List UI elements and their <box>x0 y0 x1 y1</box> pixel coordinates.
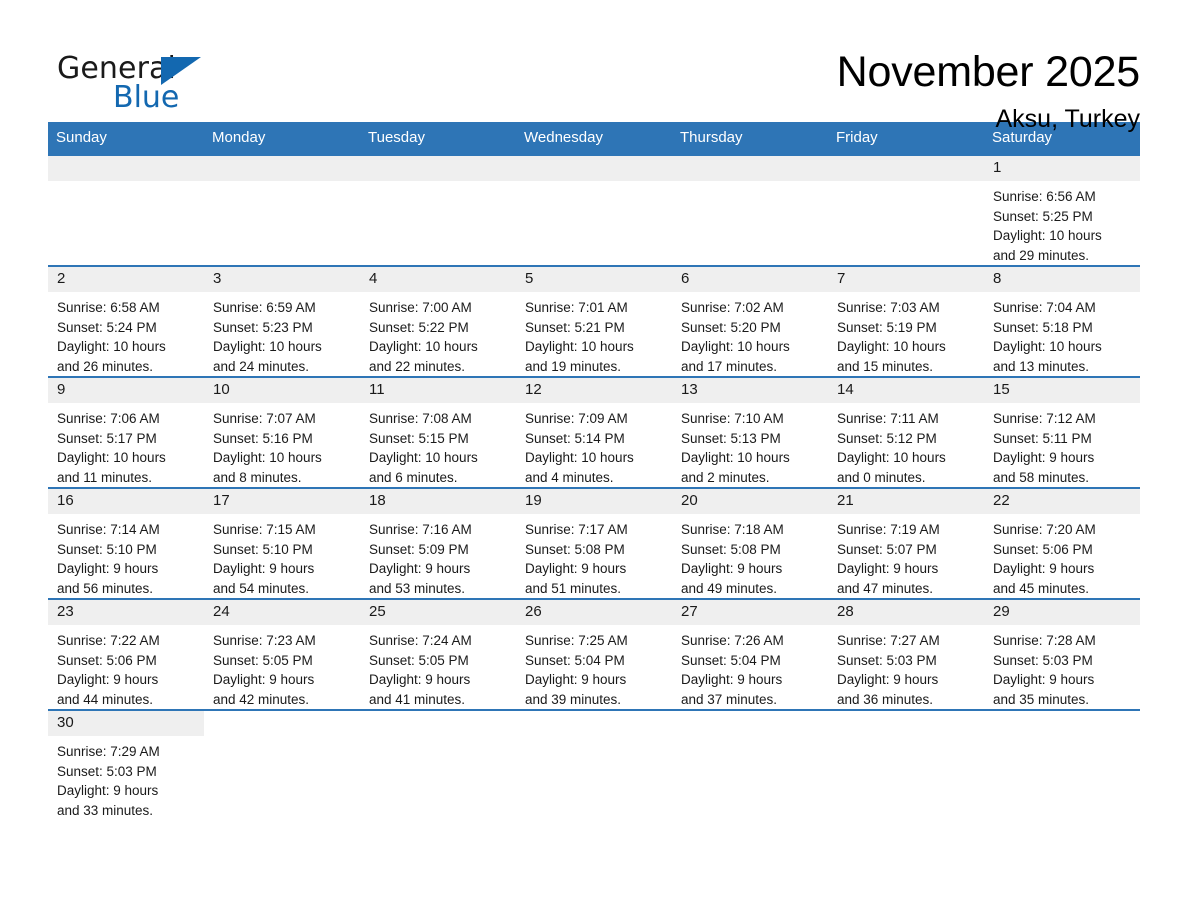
sunrise-text: Sunrise: 7:22 AM <box>57 631 198 651</box>
daylight-text-line2: and 17 minutes. <box>681 357 822 377</box>
sunrise-text: Sunrise: 7:19 AM <box>837 520 978 540</box>
sunrise-text: Sunrise: 7:24 AM <box>369 631 510 651</box>
day-cell-inner: 23Sunrise: 7:22 AMSunset: 5:06 PMDayligh… <box>48 600 204 709</box>
day-cell-inner <box>828 711 984 821</box>
day-cell-inner: 14Sunrise: 7:11 AMSunset: 5:12 PMDayligh… <box>828 378 984 487</box>
calendar-blank-cell <box>828 710 984 822</box>
day-details: Sunrise: 7:27 AMSunset: 5:03 PMDaylight:… <box>828 625 984 709</box>
daylight-text-line1: Daylight: 9 hours <box>993 670 1134 690</box>
day-cell-inner: 6Sunrise: 7:02 AMSunset: 5:20 PMDaylight… <box>672 267 828 376</box>
daylight-text-line1: Daylight: 9 hours <box>525 670 666 690</box>
sunrise-text: Sunrise: 7:15 AM <box>213 520 354 540</box>
day-number: 1 <box>984 156 1140 181</box>
day-details: Sunrise: 7:02 AMSunset: 5:20 PMDaylight:… <box>672 292 828 376</box>
day-number <box>516 156 672 181</box>
day-number: 23 <box>48 600 204 625</box>
day-details: Sunrise: 7:08 AMSunset: 5:15 PMDaylight:… <box>360 403 516 487</box>
day-number <box>984 711 1140 736</box>
calendar-empty-cell <box>360 155 516 266</box>
calendar-day-cell[interactable]: 23Sunrise: 7:22 AMSunset: 5:06 PMDayligh… <box>48 599 204 710</box>
daylight-text-line2: and 44 minutes. <box>57 690 198 710</box>
daylight-text-line1: Daylight: 10 hours <box>369 337 510 357</box>
sunrise-text: Sunrise: 7:28 AM <box>993 631 1134 651</box>
sunset-text: Sunset: 5:04 PM <box>681 651 822 671</box>
daylight-text-line2: and 33 minutes. <box>57 801 198 821</box>
sunrise-text: Sunrise: 7:23 AM <box>213 631 354 651</box>
daylight-text-line2: and 35 minutes. <box>993 690 1134 710</box>
calendar-week-row: 1Sunrise: 6:56 AMSunset: 5:25 PMDaylight… <box>48 155 1140 266</box>
day-details: Sunrise: 6:56 AMSunset: 5:25 PMDaylight:… <box>984 181 1140 265</box>
day-number: 17 <box>204 489 360 514</box>
daylight-text-line2: and 37 minutes. <box>681 690 822 710</box>
sunset-text: Sunset: 5:10 PM <box>213 540 354 560</box>
sunset-text: Sunset: 5:16 PM <box>213 429 354 449</box>
day-cell-inner: 24Sunrise: 7:23 AMSunset: 5:05 PMDayligh… <box>204 600 360 709</box>
daylight-text-line2: and 58 minutes. <box>993 468 1134 488</box>
sunset-text: Sunset: 5:06 PM <box>993 540 1134 560</box>
daylight-text-line2: and 49 minutes. <box>681 579 822 599</box>
calendar-table: Sunday Monday Tuesday Wednesday Thursday… <box>48 122 1140 823</box>
sunrise-text: Sunrise: 7:16 AM <box>369 520 510 540</box>
sunset-text: Sunset: 5:24 PM <box>57 318 198 338</box>
day-cell-inner: 12Sunrise: 7:09 AMSunset: 5:14 PMDayligh… <box>516 378 672 487</box>
day-number <box>360 156 516 181</box>
day-cell-inner <box>672 711 828 821</box>
day-cell-inner: 13Sunrise: 7:10 AMSunset: 5:13 PMDayligh… <box>672 378 828 487</box>
day-cell-inner <box>204 156 360 265</box>
day-details: Sunrise: 7:15 AMSunset: 5:10 PMDaylight:… <box>204 514 360 598</box>
day-cell-inner: 21Sunrise: 7:19 AMSunset: 5:07 PMDayligh… <box>828 489 984 598</box>
day-cell-inner: 28Sunrise: 7:27 AMSunset: 5:03 PMDayligh… <box>828 600 984 709</box>
daylight-text-line1: Daylight: 10 hours <box>681 337 822 357</box>
day-number: 5 <box>516 267 672 292</box>
day-details: Sunrise: 7:01 AMSunset: 5:21 PMDaylight:… <box>516 292 672 376</box>
sunset-text: Sunset: 5:03 PM <box>993 651 1134 671</box>
daylight-text-line2: and 11 minutes. <box>57 468 198 488</box>
day-number <box>828 711 984 736</box>
day-details: Sunrise: 7:19 AMSunset: 5:07 PMDaylight:… <box>828 514 984 598</box>
calendar-blank-cell <box>360 710 516 822</box>
daylight-text-line1: Daylight: 10 hours <box>525 337 666 357</box>
day-number: 14 <box>828 378 984 403</box>
sunset-text: Sunset: 5:09 PM <box>369 540 510 560</box>
calendar-day-cell[interactable]: 11Sunrise: 7:08 AMSunset: 5:15 PMDayligh… <box>360 377 516 488</box>
day-number: 11 <box>360 378 516 403</box>
day-number <box>672 156 828 181</box>
sunset-text: Sunset: 5:08 PM <box>681 540 822 560</box>
day-details: Sunrise: 7:04 AMSunset: 5:18 PMDaylight:… <box>984 292 1140 376</box>
daylight-text-line2: and 0 minutes. <box>837 468 978 488</box>
calendar-day-cell[interactable]: 14Sunrise: 7:11 AMSunset: 5:12 PMDayligh… <box>828 377 984 488</box>
calendar-day-cell[interactable]: 22Sunrise: 7:20 AMSunset: 5:06 PMDayligh… <box>984 488 1140 599</box>
daylight-text-line2: and 22 minutes. <box>369 357 510 377</box>
day-details: Sunrise: 7:06 AMSunset: 5:17 PMDaylight:… <box>48 403 204 487</box>
sunrise-text: Sunrise: 7:12 AM <box>993 409 1134 429</box>
sunset-text: Sunset: 5:21 PM <box>525 318 666 338</box>
day-number: 7 <box>828 267 984 292</box>
day-number: 28 <box>828 600 984 625</box>
calendar-empty-cell <box>516 155 672 266</box>
daylight-text-line1: Daylight: 10 hours <box>57 448 198 468</box>
day-details: Sunrise: 6:58 AMSunset: 5:24 PMDaylight:… <box>48 292 204 376</box>
day-details: Sunrise: 7:20 AMSunset: 5:06 PMDaylight:… <box>984 514 1140 598</box>
daylight-text-line2: and 54 minutes. <box>213 579 354 599</box>
day-number: 19 <box>516 489 672 514</box>
daylight-text-line2: and 6 minutes. <box>369 468 510 488</box>
calendar-day-cell[interactable]: 21Sunrise: 7:19 AMSunset: 5:07 PMDayligh… <box>828 488 984 599</box>
general-blue-logo[interactable]: General Blue <box>57 52 297 122</box>
sunset-text: Sunset: 5:12 PM <box>837 429 978 449</box>
calendar-blank-cell <box>204 710 360 822</box>
sunset-text: Sunset: 5:05 PM <box>369 651 510 671</box>
day-cell-inner <box>828 156 984 265</box>
day-cell-inner <box>984 711 1140 821</box>
sunset-text: Sunset: 5:25 PM <box>993 207 1134 227</box>
day-number: 8 <box>984 267 1140 292</box>
day-number: 9 <box>48 378 204 403</box>
calendar-day-cell[interactable]: 28Sunrise: 7:27 AMSunset: 5:03 PMDayligh… <box>828 599 984 710</box>
calendar-day-cell[interactable]: 26Sunrise: 7:25 AMSunset: 5:04 PMDayligh… <box>516 599 672 710</box>
sunrise-text: Sunrise: 7:20 AM <box>993 520 1134 540</box>
day-number <box>204 711 360 736</box>
daylight-text-line1: Daylight: 9 hours <box>837 559 978 579</box>
day-number <box>360 711 516 736</box>
calendar-day-cell[interactable]: 17Sunrise: 7:15 AMSunset: 5:10 PMDayligh… <box>204 488 360 599</box>
day-number: 12 <box>516 378 672 403</box>
calendar-day-cell[interactable]: 15Sunrise: 7:12 AMSunset: 5:11 PMDayligh… <box>984 377 1140 488</box>
daylight-text-line2: and 42 minutes. <box>213 690 354 710</box>
day-number: 25 <box>360 600 516 625</box>
day-details: Sunrise: 7:14 AMSunset: 5:10 PMDaylight:… <box>48 514 204 598</box>
daylight-text-line1: Daylight: 9 hours <box>993 559 1134 579</box>
daylight-text-line1: Daylight: 9 hours <box>57 781 198 801</box>
sunrise-text: Sunrise: 7:27 AM <box>837 631 978 651</box>
daylight-text-line1: Daylight: 10 hours <box>681 448 822 468</box>
day-cell-inner: 11Sunrise: 7:08 AMSunset: 5:15 PMDayligh… <box>360 378 516 487</box>
sunset-text: Sunset: 5:14 PM <box>525 429 666 449</box>
day-cell-inner: 10Sunrise: 7:07 AMSunset: 5:16 PMDayligh… <box>204 378 360 487</box>
daylight-text-line1: Daylight: 9 hours <box>369 670 510 690</box>
sunrise-text: Sunrise: 7:02 AM <box>681 298 822 318</box>
calendar-empty-cell <box>48 155 204 266</box>
day-details: Sunrise: 7:18 AMSunset: 5:08 PMDaylight:… <box>672 514 828 598</box>
calendar-week-row: 2Sunrise: 6:58 AMSunset: 5:24 PMDaylight… <box>48 266 1140 377</box>
sunrise-text: Sunrise: 7:18 AM <box>681 520 822 540</box>
day-number: 16 <box>48 489 204 514</box>
day-cell-inner: 8Sunrise: 7:04 AMSunset: 5:18 PMDaylight… <box>984 267 1140 376</box>
sunset-text: Sunset: 5:04 PM <box>525 651 666 671</box>
day-cell-inner: 5Sunrise: 7:01 AMSunset: 5:21 PMDaylight… <box>516 267 672 376</box>
calendar-day-cell[interactable]: 13Sunrise: 7:10 AMSunset: 5:13 PMDayligh… <box>672 377 828 488</box>
day-cell-inner: 19Sunrise: 7:17 AMSunset: 5:08 PMDayligh… <box>516 489 672 598</box>
sunrise-text: Sunrise: 7:17 AM <box>525 520 666 540</box>
daylight-text-line1: Daylight: 10 hours <box>525 448 666 468</box>
day-cell-inner: 25Sunrise: 7:24 AMSunset: 5:05 PMDayligh… <box>360 600 516 709</box>
calendar-day-cell[interactable]: 3Sunrise: 6:59 AMSunset: 5:23 PMDaylight… <box>204 266 360 377</box>
day-number: 26 <box>516 600 672 625</box>
daylight-text-line1: Daylight: 9 hours <box>681 559 822 579</box>
day-number: 29 <box>984 600 1140 625</box>
day-number <box>828 156 984 181</box>
day-details: Sunrise: 7:03 AMSunset: 5:19 PMDaylight:… <box>828 292 984 376</box>
day-number: 30 <box>48 711 204 736</box>
sunset-text: Sunset: 5:13 PM <box>681 429 822 449</box>
day-details: Sunrise: 7:17 AMSunset: 5:08 PMDaylight:… <box>516 514 672 598</box>
sunrise-text: Sunrise: 7:06 AM <box>57 409 198 429</box>
calendar-blank-cell <box>984 710 1140 822</box>
day-cell-inner: 16Sunrise: 7:14 AMSunset: 5:10 PMDayligh… <box>48 489 204 598</box>
day-details: Sunrise: 7:10 AMSunset: 5:13 PMDaylight:… <box>672 403 828 487</box>
day-number: 22 <box>984 489 1140 514</box>
day-cell-inner: 26Sunrise: 7:25 AMSunset: 5:04 PMDayligh… <box>516 600 672 709</box>
day-number: 15 <box>984 378 1140 403</box>
daylight-text-line2: and 36 minutes. <box>837 690 978 710</box>
day-number <box>516 711 672 736</box>
calendar-empty-cell <box>828 155 984 266</box>
day-cell-inner <box>204 711 360 821</box>
sunset-text: Sunset: 5:23 PM <box>213 318 354 338</box>
sunset-text: Sunset: 5:08 PM <box>525 540 666 560</box>
daylight-text-line2: and 4 minutes. <box>525 468 666 488</box>
day-details: Sunrise: 7:12 AMSunset: 5:11 PMDaylight:… <box>984 403 1140 487</box>
calendar-week-row: 9Sunrise: 7:06 AMSunset: 5:17 PMDaylight… <box>48 377 1140 488</box>
daylight-text-line2: and 26 minutes. <box>57 357 198 377</box>
calendar-day-cell[interactable]: 19Sunrise: 7:17 AMSunset: 5:08 PMDayligh… <box>516 488 672 599</box>
day-cell-inner: 2Sunrise: 6:58 AMSunset: 5:24 PMDaylight… <box>48 267 204 376</box>
day-details: Sunrise: 7:00 AMSunset: 5:22 PMDaylight:… <box>360 292 516 376</box>
sunrise-text: Sunrise: 6:59 AM <box>213 298 354 318</box>
calendar-day-cell[interactable]: 8Sunrise: 7:04 AMSunset: 5:18 PMDaylight… <box>984 266 1140 377</box>
sunset-text: Sunset: 5:11 PM <box>993 429 1134 449</box>
sunrise-text: Sunrise: 7:09 AM <box>525 409 666 429</box>
day-details: Sunrise: 7:28 AMSunset: 5:03 PMDaylight:… <box>984 625 1140 709</box>
sunrise-text: Sunrise: 7:26 AM <box>681 631 822 651</box>
logo-text-blue: Blue <box>113 81 179 115</box>
page-header: General Blue November 2025 Aksu, Turkey <box>48 0 1140 110</box>
day-cell-inner <box>48 156 204 265</box>
daylight-text-line2: and 56 minutes. <box>57 579 198 599</box>
sunset-text: Sunset: 5:03 PM <box>57 762 198 782</box>
daylight-text-line1: Daylight: 10 hours <box>837 448 978 468</box>
day-number: 10 <box>204 378 360 403</box>
day-cell-inner <box>672 156 828 265</box>
daylight-text-line1: Daylight: 10 hours <box>993 337 1134 357</box>
daylight-text-line1: Daylight: 9 hours <box>369 559 510 579</box>
sunrise-text: Sunrise: 7:00 AM <box>369 298 510 318</box>
day-cell-inner: 1Sunrise: 6:56 AMSunset: 5:25 PMDaylight… <box>984 156 1140 265</box>
day-number <box>204 156 360 181</box>
day-number: 18 <box>360 489 516 514</box>
sunrise-text: Sunrise: 7:03 AM <box>837 298 978 318</box>
calendar-day-cell[interactable]: 9Sunrise: 7:06 AMSunset: 5:17 PMDaylight… <box>48 377 204 488</box>
calendar-blank-cell <box>516 710 672 822</box>
calendar-empty-cell <box>672 155 828 266</box>
daylight-text-line2: and 47 minutes. <box>837 579 978 599</box>
calendar-day-cell[interactable]: 7Sunrise: 7:03 AMSunset: 5:19 PMDaylight… <box>828 266 984 377</box>
calendar-week-row: 30Sunrise: 7:29 AMSunset: 5:03 PMDayligh… <box>48 710 1140 822</box>
daylight-text-line2: and 19 minutes. <box>525 357 666 377</box>
day-number: 24 <box>204 600 360 625</box>
sunrise-text: Sunrise: 7:08 AM <box>369 409 510 429</box>
calendar-day-cell[interactable]: 30Sunrise: 7:29 AMSunset: 5:03 PMDayligh… <box>48 710 204 822</box>
daylight-text-line1: Daylight: 9 hours <box>213 670 354 690</box>
sunrise-text: Sunrise: 6:58 AM <box>57 298 198 318</box>
day-details: Sunrise: 6:59 AMSunset: 5:23 PMDaylight:… <box>204 292 360 376</box>
sunrise-text: Sunrise: 7:14 AM <box>57 520 198 540</box>
calendar-day-cell[interactable]: 25Sunrise: 7:24 AMSunset: 5:05 PMDayligh… <box>360 599 516 710</box>
daylight-text-line2: and 2 minutes. <box>681 468 822 488</box>
day-number <box>48 156 204 181</box>
sunset-text: Sunset: 5:07 PM <box>837 540 978 560</box>
day-cell-inner: 17Sunrise: 7:15 AMSunset: 5:10 PMDayligh… <box>204 489 360 598</box>
day-details: Sunrise: 7:22 AMSunset: 5:06 PMDaylight:… <box>48 625 204 709</box>
day-details: Sunrise: 7:29 AMSunset: 5:03 PMDaylight:… <box>48 736 204 820</box>
day-cell-inner: 4Sunrise: 7:00 AMSunset: 5:22 PMDaylight… <box>360 267 516 376</box>
calendar-day-cell[interactable]: 1Sunrise: 6:56 AMSunset: 5:25 PMDaylight… <box>984 155 1140 266</box>
day-cell-inner <box>516 156 672 265</box>
calendar-day-cell[interactable]: 10Sunrise: 7:07 AMSunset: 5:16 PMDayligh… <box>204 377 360 488</box>
sunrise-text: Sunrise: 7:11 AM <box>837 409 978 429</box>
day-cell-inner: 22Sunrise: 7:20 AMSunset: 5:06 PMDayligh… <box>984 489 1140 598</box>
day-cell-inner: 20Sunrise: 7:18 AMSunset: 5:08 PMDayligh… <box>672 489 828 598</box>
sunrise-text: Sunrise: 7:29 AM <box>57 742 198 762</box>
sunset-text: Sunset: 5:19 PM <box>837 318 978 338</box>
day-number: 2 <box>48 267 204 292</box>
day-cell-inner: 7Sunrise: 7:03 AMSunset: 5:19 PMDaylight… <box>828 267 984 376</box>
day-details: Sunrise: 7:11 AMSunset: 5:12 PMDaylight:… <box>828 403 984 487</box>
sunrise-text: Sunrise: 7:10 AM <box>681 409 822 429</box>
daylight-text-line1: Daylight: 10 hours <box>369 448 510 468</box>
sunset-text: Sunset: 5:06 PM <box>57 651 198 671</box>
daylight-text-line1: Daylight: 9 hours <box>213 559 354 579</box>
day-number <box>672 711 828 736</box>
calendar-empty-cell <box>204 155 360 266</box>
sunset-text: Sunset: 5:18 PM <box>993 318 1134 338</box>
day-details: Sunrise: 7:24 AMSunset: 5:05 PMDaylight:… <box>360 625 516 709</box>
calendar-day-cell[interactable]: 29Sunrise: 7:28 AMSunset: 5:03 PMDayligh… <box>984 599 1140 710</box>
day-cell-inner <box>516 711 672 821</box>
daylight-text-line2: and 15 minutes. <box>837 357 978 377</box>
daylight-text-line2: and 41 minutes. <box>369 690 510 710</box>
daylight-text-line1: Daylight: 9 hours <box>681 670 822 690</box>
calendar-day-cell[interactable]: 12Sunrise: 7:09 AMSunset: 5:14 PMDayligh… <box>516 377 672 488</box>
calendar-body: 1Sunrise: 6:56 AMSunset: 5:25 PMDaylight… <box>48 155 1140 822</box>
daylight-text-line1: Daylight: 10 hours <box>213 337 354 357</box>
day-details: Sunrise: 7:25 AMSunset: 5:04 PMDaylight:… <box>516 625 672 709</box>
calendar-week-row: 23Sunrise: 7:22 AMSunset: 5:06 PMDayligh… <box>48 599 1140 710</box>
sunset-text: Sunset: 5:15 PM <box>369 429 510 449</box>
daylight-text-line2: and 39 minutes. <box>525 690 666 710</box>
sunset-text: Sunset: 5:20 PM <box>681 318 822 338</box>
calendar-day-cell[interactable]: 18Sunrise: 7:16 AMSunset: 5:09 PMDayligh… <box>360 488 516 599</box>
day-cell-inner: 3Sunrise: 6:59 AMSunset: 5:23 PMDaylight… <box>204 267 360 376</box>
calendar-week-row: 16Sunrise: 7:14 AMSunset: 5:10 PMDayligh… <box>48 488 1140 599</box>
day-number: 13 <box>672 378 828 403</box>
daylight-text-line1: Daylight: 10 hours <box>57 337 198 357</box>
calendar-day-cell[interactable]: 16Sunrise: 7:14 AMSunset: 5:10 PMDayligh… <box>48 488 204 599</box>
day-details: Sunrise: 7:23 AMSunset: 5:05 PMDaylight:… <box>204 625 360 709</box>
daylight-text-line1: Daylight: 10 hours <box>837 337 978 357</box>
day-cell-inner: 15Sunrise: 7:12 AMSunset: 5:11 PMDayligh… <box>984 378 1140 487</box>
day-number: 21 <box>828 489 984 514</box>
daylight-text-line1: Daylight: 9 hours <box>57 670 198 690</box>
daylight-text-line1: Daylight: 10 hours <box>213 448 354 468</box>
daylight-text-line2: and 53 minutes. <box>369 579 510 599</box>
day-cell-inner: 30Sunrise: 7:29 AMSunset: 5:03 PMDayligh… <box>48 711 204 821</box>
sunset-text: Sunset: 5:03 PM <box>837 651 978 671</box>
day-cell-inner: 18Sunrise: 7:16 AMSunset: 5:09 PMDayligh… <box>360 489 516 598</box>
calendar-day-cell[interactable]: 4Sunrise: 7:00 AMSunset: 5:22 PMDaylight… <box>360 266 516 377</box>
day-cell-inner: 9Sunrise: 7:06 AMSunset: 5:17 PMDaylight… <box>48 378 204 487</box>
calendar-day-cell[interactable]: 2Sunrise: 6:58 AMSunset: 5:24 PMDaylight… <box>48 266 204 377</box>
day-details: Sunrise: 7:09 AMSunset: 5:14 PMDaylight:… <box>516 403 672 487</box>
sunrise-text: Sunrise: 7:01 AM <box>525 298 666 318</box>
daylight-text-line2: and 45 minutes. <box>993 579 1134 599</box>
day-cell-inner: 27Sunrise: 7:26 AMSunset: 5:04 PMDayligh… <box>672 600 828 709</box>
daylight-text-line1: Daylight: 9 hours <box>525 559 666 579</box>
daylight-text-line2: and 13 minutes. <box>993 357 1134 377</box>
day-number: 3 <box>204 267 360 292</box>
day-details: Sunrise: 7:07 AMSunset: 5:16 PMDaylight:… <box>204 403 360 487</box>
sunset-text: Sunset: 5:10 PM <box>57 540 198 560</box>
sunrise-text: Sunrise: 7:04 AM <box>993 298 1134 318</box>
sunset-text: Sunset: 5:17 PM <box>57 429 198 449</box>
sunrise-text: Sunrise: 6:56 AM <box>993 187 1134 207</box>
daylight-text-line1: Daylight: 9 hours <box>993 448 1134 468</box>
calendar-day-cell[interactable]: 20Sunrise: 7:18 AMSunset: 5:08 PMDayligh… <box>672 488 828 599</box>
daylight-text-line2: and 29 minutes. <box>993 246 1134 266</box>
day-cell-inner <box>360 711 516 821</box>
day-cell-inner: 29Sunrise: 7:28 AMSunset: 5:03 PMDayligh… <box>984 600 1140 709</box>
sunset-text: Sunset: 5:22 PM <box>369 318 510 338</box>
calendar-blank-cell <box>672 710 828 822</box>
sunset-text: Sunset: 5:05 PM <box>213 651 354 671</box>
day-number: 20 <box>672 489 828 514</box>
sunrise-text: Sunrise: 7:25 AM <box>525 631 666 651</box>
daylight-text-line2: and 24 minutes. <box>213 357 354 377</box>
day-cell-inner <box>360 156 516 265</box>
daylight-text-line1: Daylight: 9 hours <box>57 559 198 579</box>
day-number: 6 <box>672 267 828 292</box>
day-details: Sunrise: 7:16 AMSunset: 5:09 PMDaylight:… <box>360 514 516 598</box>
calendar-day-cell[interactable]: 5Sunrise: 7:01 AMSunset: 5:21 PMDaylight… <box>516 266 672 377</box>
daylight-text-line1: Daylight: 10 hours <box>993 226 1134 246</box>
daylight-text-line2: and 51 minutes. <box>525 579 666 599</box>
daylight-text-line2: and 8 minutes. <box>213 468 354 488</box>
sunrise-text: Sunrise: 7:07 AM <box>213 409 354 429</box>
day-details: Sunrise: 7:26 AMSunset: 5:04 PMDaylight:… <box>672 625 828 709</box>
calendar-day-cell[interactable]: 24Sunrise: 7:23 AMSunset: 5:05 PMDayligh… <box>204 599 360 710</box>
calendar-day-cell[interactable]: 6Sunrise: 7:02 AMSunset: 5:20 PMDaylight… <box>672 266 828 377</box>
day-number: 4 <box>360 267 516 292</box>
day-number: 27 <box>672 600 828 625</box>
daylight-text-line1: Daylight: 9 hours <box>837 670 978 690</box>
calendar-day-cell[interactable]: 27Sunrise: 7:26 AMSunset: 5:04 PMDayligh… <box>672 599 828 710</box>
calendar-page: General Blue November 2025 Aksu, Turkey … <box>0 0 1188 918</box>
